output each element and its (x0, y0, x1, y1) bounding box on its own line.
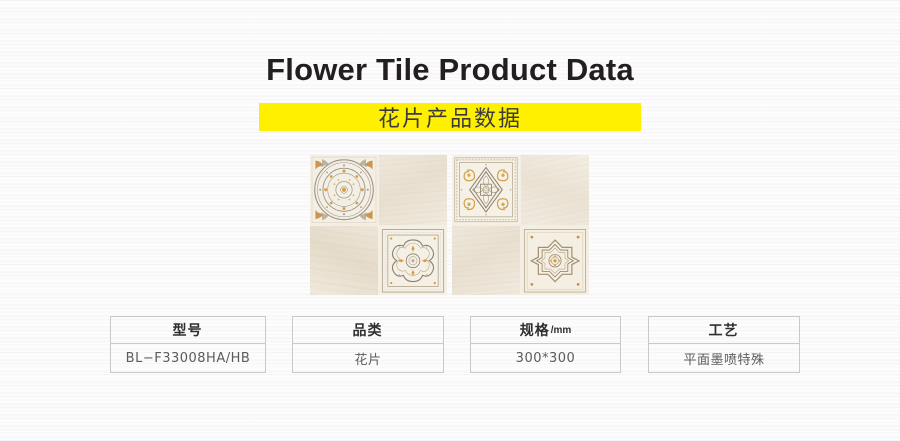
page-title-english: Flower Tile Product Data (0, 52, 900, 88)
spec-header-category-label: 品类 (353, 320, 383, 340)
spec-value-size: 300*300 (471, 344, 620, 373)
spec-header-size-unit: /mm (551, 325, 572, 336)
spec-box-model: 型号 BL−F33008HA/HB (110, 316, 266, 373)
tile-cell-plain-marble (521, 155, 589, 225)
spec-header-size-label: 规格 (520, 320, 550, 340)
tile-cell-plain-travertine (310, 226, 378, 296)
spec-box-technique: 工艺 平面墨喷特殊 (648, 316, 800, 373)
tile-cell-plain-marble (452, 226, 520, 296)
spec-header-model-label: 型号 (173, 320, 203, 340)
spec-value-technique: 平面墨喷特殊 (649, 344, 799, 373)
spec-value-model: BL−F33008HA/HB (111, 344, 265, 373)
spec-table: 型号 BL−F33008HA/HB 品类 花片 规格 /mm 300*300 工… (110, 316, 800, 373)
page-title-chinese: 花片产品数据 (259, 103, 641, 131)
spec-header-technique: 工艺 (649, 317, 799, 344)
tile-cell-quatrefoil-flower (379, 226, 447, 296)
product-image-left (310, 155, 447, 295)
product-image-right (452, 155, 589, 295)
spec-value-category: 花片 (293, 344, 443, 373)
spec-header-technique-label: 工艺 (709, 320, 739, 340)
product-image-gallery (310, 155, 590, 295)
spec-header-size: 规格 /mm (471, 317, 620, 344)
tile-cell-plain-travertine (379, 155, 447, 225)
spec-box-size: 规格 /mm 300*300 (470, 316, 621, 373)
tile-cell-square-medallion (452, 155, 520, 225)
product-data-page: Flower Tile Product Data 花片产品数据 (0, 0, 900, 441)
spec-header-model: 型号 (111, 317, 265, 344)
spec-box-category: 品类 花片 (292, 316, 444, 373)
spec-header-category: 品类 (293, 317, 443, 344)
tile-cell-octofoil-medallion (521, 226, 589, 296)
tile-cell-circular-mandala (310, 155, 378, 225)
